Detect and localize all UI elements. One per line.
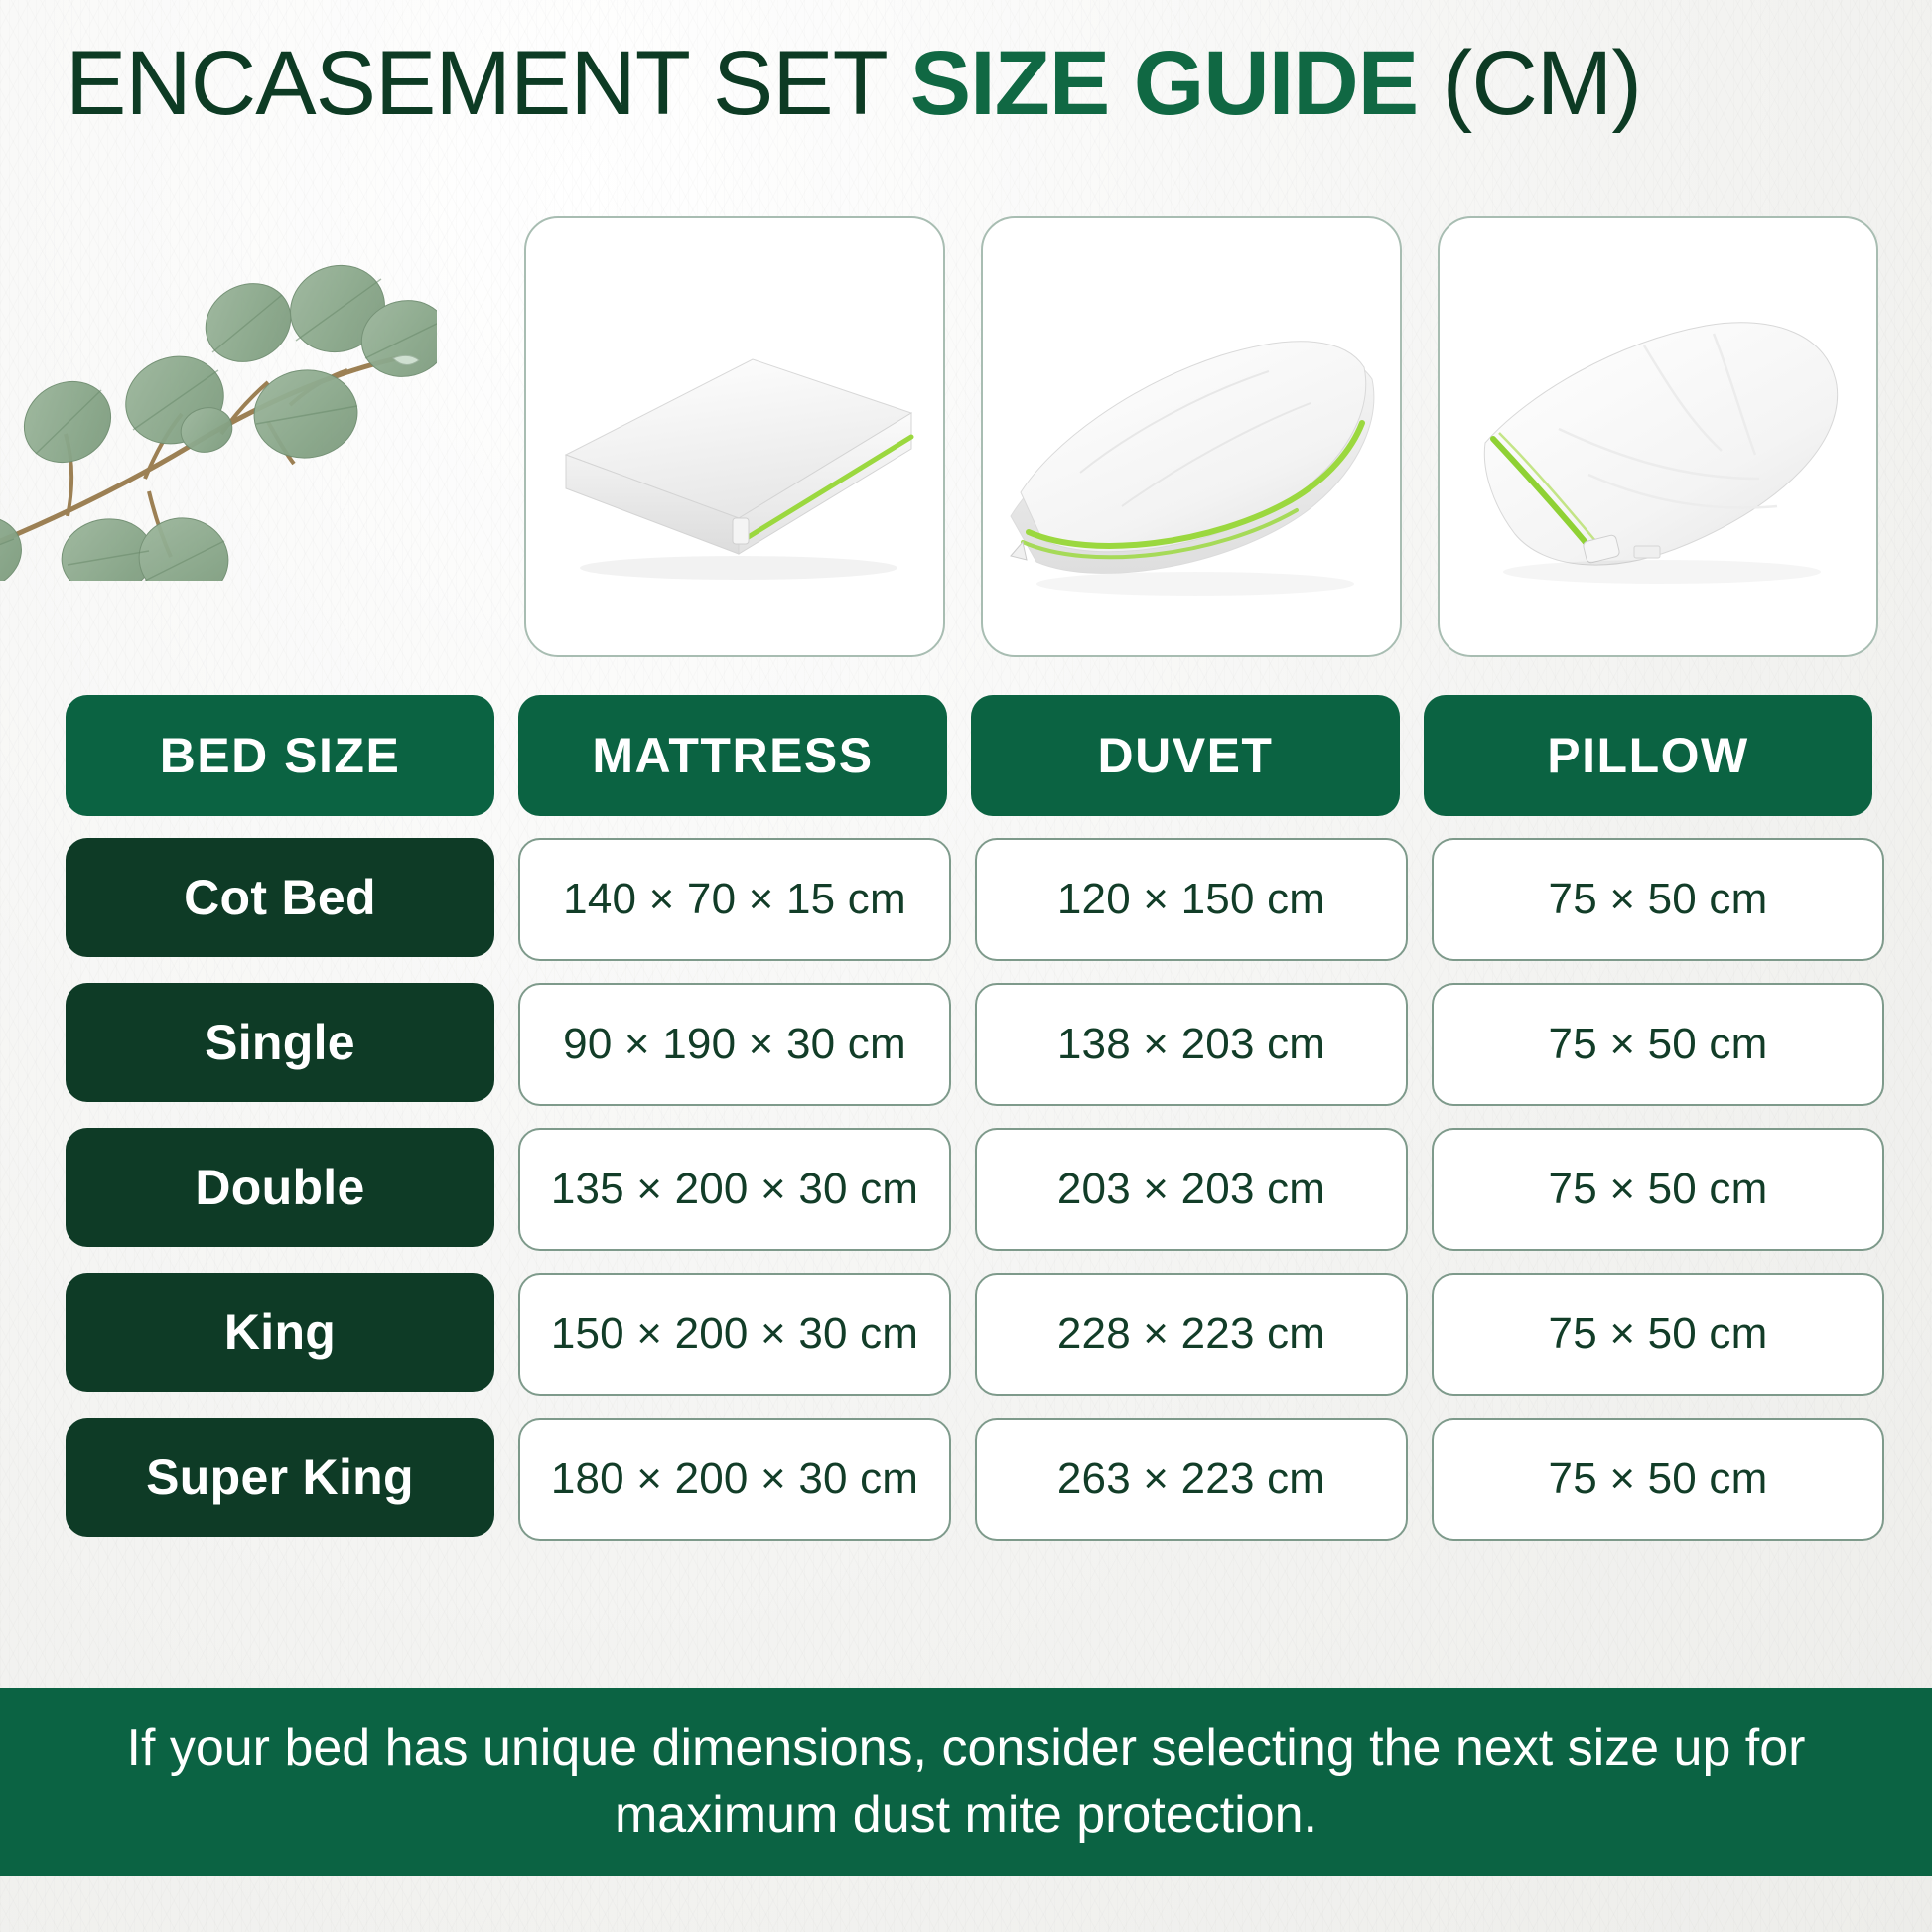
- cell-mattress-single: 90 × 190 × 30 cm: [518, 983, 951, 1106]
- table-header-duvet: DUVET: [971, 695, 1400, 816]
- cell-duvet-king: 228 × 223 cm: [975, 1273, 1408, 1396]
- table-header-bed-size: BED SIZE: [66, 695, 494, 816]
- table-row: Cot Bed 140 × 70 × 15 cm 120 × 150 cm 75…: [66, 838, 1876, 961]
- cell-pillow-double: 75 × 50 cm: [1432, 1128, 1884, 1251]
- cell-mattress-king: 150 × 200 × 30 cm: [518, 1273, 951, 1396]
- product-image-card-duvet: [981, 216, 1402, 657]
- page-title-part-2: SIZE GUIDE: [910, 33, 1418, 134]
- size-guide-table: BED SIZE MATTRESS DUVET PILLOW Cot Bed 1…: [66, 695, 1876, 1563]
- row-label-king: King: [66, 1273, 494, 1392]
- table-header-mattress: MATTRESS: [518, 695, 947, 816]
- table-row: Single 90 × 190 × 30 cm 138 × 203 cm 75 …: [66, 983, 1876, 1106]
- footer-note-banner: If your bed has unique dimensions, consi…: [0, 1688, 1932, 1876]
- cell-pillow-super-king: 75 × 50 cm: [1432, 1418, 1884, 1541]
- cell-mattress-super-king: 180 × 200 × 30 cm: [518, 1418, 951, 1541]
- cell-duvet-single: 138 × 203 cm: [975, 983, 1408, 1106]
- cell-duvet-double: 203 × 203 cm: [975, 1128, 1408, 1251]
- row-label-cot-bed: Cot Bed: [66, 838, 494, 957]
- page-title: ENCASEMENT SET SIZE GUIDE (CM): [66, 26, 1882, 141]
- table-header-row: BED SIZE MATTRESS DUVET PILLOW: [66, 695, 1876, 816]
- page-title-part-1: ENCASEMENT SET: [66, 33, 910, 134]
- cell-duvet-super-king: 263 × 223 cm: [975, 1418, 1408, 1541]
- product-image-card-mattress: [524, 216, 945, 657]
- row-label-super-king: Super King: [66, 1418, 494, 1537]
- cell-pillow-cot-bed: 75 × 50 cm: [1432, 838, 1884, 961]
- table-row: Super King 180 × 200 × 30 cm 263 × 223 c…: [66, 1418, 1876, 1541]
- product-image-card-pillow: [1438, 216, 1878, 657]
- table-header-pillow: PILLOW: [1424, 695, 1872, 816]
- row-label-single: Single: [66, 983, 494, 1102]
- table-row: Double 135 × 200 × 30 cm 203 × 203 cm 75…: [66, 1128, 1876, 1251]
- footer-note-text: If your bed has unique dimensions, consi…: [53, 1716, 1879, 1848]
- table-row: King 150 × 200 × 30 cm 228 × 223 cm 75 ×…: [66, 1273, 1876, 1396]
- cell-duvet-cot-bed: 120 × 150 cm: [975, 838, 1408, 961]
- page-title-part-3: (CM): [1418, 33, 1641, 134]
- cell-pillow-king: 75 × 50 cm: [1432, 1273, 1884, 1396]
- cell-mattress-cot-bed: 140 × 70 × 15 cm: [518, 838, 951, 961]
- cell-mattress-double: 135 × 200 × 30 cm: [518, 1128, 951, 1251]
- row-label-double: Double: [66, 1128, 494, 1247]
- cell-pillow-single: 75 × 50 cm: [1432, 983, 1884, 1106]
